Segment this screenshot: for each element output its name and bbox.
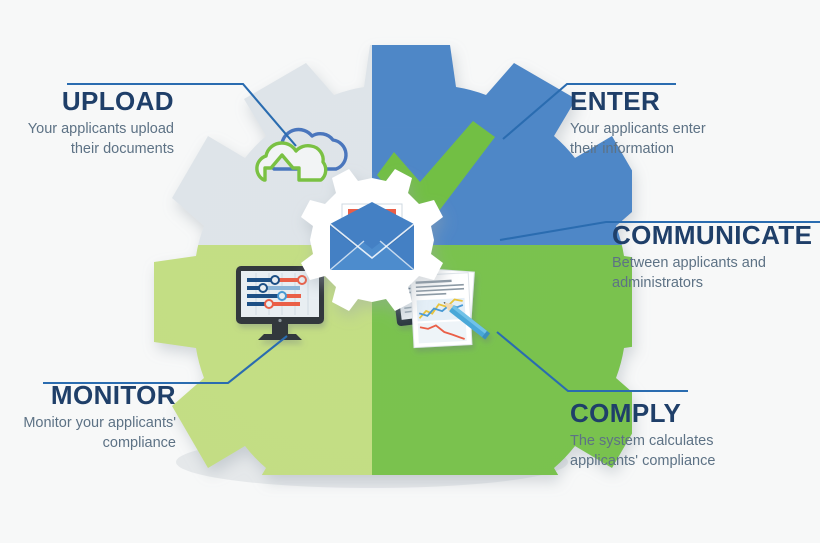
callout-title-communicate: COMMUNICATE: [612, 222, 818, 249]
callout-description-enter: Your applicants enter their information: [570, 119, 800, 159]
callout-communicate: COMMUNICATE Between applicants and admin…: [612, 222, 818, 293]
connector-comply: [497, 332, 688, 391]
callout-description-communicate: Between applicants and administrators: [612, 253, 818, 293]
callout-title-comply: COMPLY: [570, 400, 804, 427]
callout-enter: ENTER Your applicants enter their inform…: [570, 88, 800, 159]
callout-comply: COMPLY The system calculates applicants'…: [570, 400, 804, 471]
infographic-canvas: UPLOAD Your applicants upload their docu…: [0, 0, 820, 543]
callout-description-upload: Your applicants upload their documents: [14, 119, 174, 159]
callout-title-monitor: MONITOR: [4, 382, 176, 409]
connector-monitor: [43, 336, 287, 383]
callout-title-enter: ENTER: [570, 88, 800, 115]
callout-title-upload: UPLOAD: [14, 88, 174, 115]
callout-description-monitor: Monitor your applicants' compliance: [4, 413, 176, 453]
callout-description-comply: The system calculates applicants' compli…: [570, 431, 804, 471]
callout-monitor: MONITOR Monitor your applicants' complia…: [4, 382, 176, 453]
callout-upload: UPLOAD Your applicants upload their docu…: [14, 88, 174, 159]
